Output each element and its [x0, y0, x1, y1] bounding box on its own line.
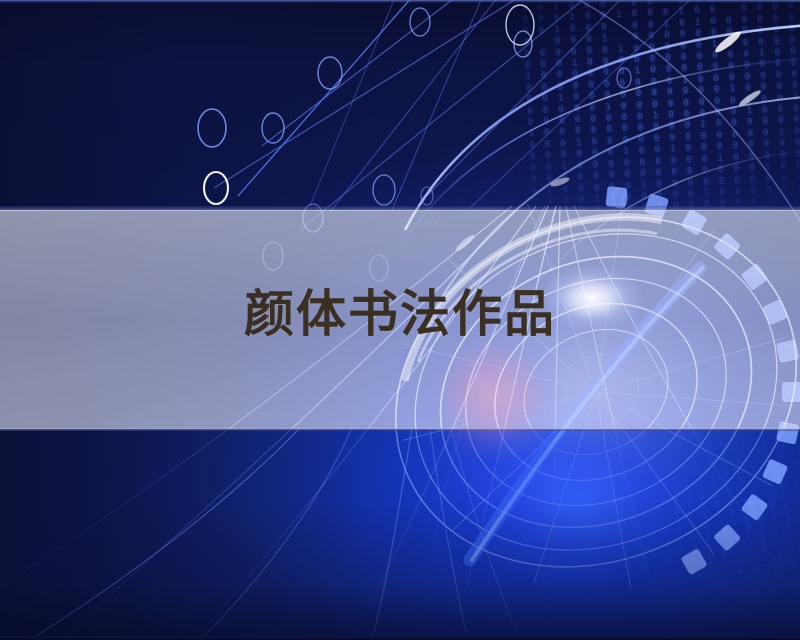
network-lines	[214, 0, 700, 230]
page-title: 颜体书法作品	[0, 283, 800, 345]
bottom-edge-rule	[0, 636, 800, 640]
top-edge-rule	[0, 0, 800, 3]
banner-canvas: 0 0 1 0 0 0 0 0 0 0 0 0 0 0 0 0 0 0 0 0 …	[0, 0, 800, 640]
band-network-lines	[214, 0, 600, 230]
